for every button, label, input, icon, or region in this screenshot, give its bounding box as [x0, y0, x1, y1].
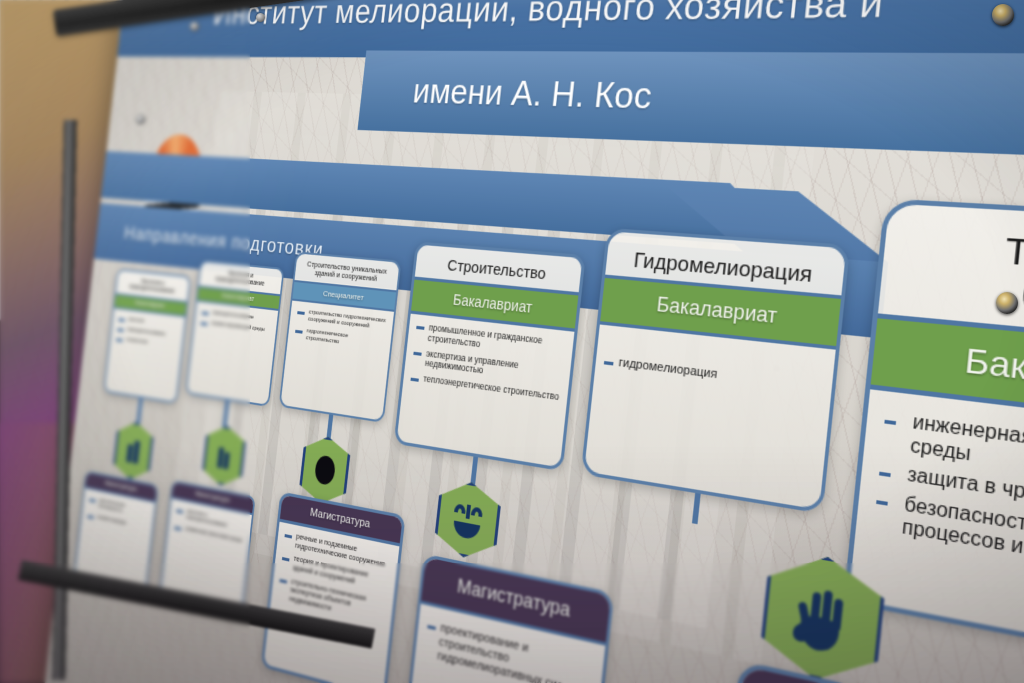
card-level-label: Бакалавриат — [452, 291, 533, 316]
card-level-band: Бакалавриат — [600, 275, 842, 350]
card-level-label: Бакалавриат — [222, 292, 255, 302]
master-card-hydro[interactable]: Магистратура проектирование и строительс… — [402, 553, 615, 683]
badge-water[interactable] — [433, 477, 503, 564]
program-card-unique-buildings[interactable]: Строительство уникальных зданий и сооруж… — [279, 251, 402, 423]
card-level-label: Специалитет — [323, 289, 365, 302]
grommet-icon — [992, 4, 1014, 26]
information-banner: Институт мелиорации, водного хозяйства и… — [36, 0, 1024, 683]
card-level-label: Магистратура — [105, 480, 137, 493]
arrow-head-icon — [650, 175, 896, 345]
card-level-label: Бакалавриат — [963, 341, 1024, 407]
card-level-label: Бакалавриат — [656, 293, 779, 328]
card-bullet-list: строительство гидротехнических сооружени… — [286, 300, 394, 365]
card-bullet: безопасность технологических процессов и… — [873, 490, 1024, 604]
connector-stem — [470, 457, 478, 486]
program-card-technosphere-safety[interactable]: Техносферная безопасность Бакалавриат ин… — [843, 198, 1024, 683]
card-level-band: Специалитет — [292, 280, 396, 312]
card-bullet: гидротехническое строительство — [294, 327, 384, 352]
card-bullet-list: проектирование и строительство гидромели… — [413, 604, 606, 683]
card-level-label: Бакалавриат — [135, 300, 165, 310]
card-bullet-list: гидромелиорация — [594, 325, 836, 413]
building-icon — [214, 442, 234, 470]
card-bullet: защита в чрезвычайных ситуациях — [878, 461, 1024, 545]
banner-title-line1: Институт мелиорации, водного хозяйства и — [212, 0, 886, 32]
master-card-safety[interactable]: Магистратура защита в чрезвычайных ситуа… — [715, 660, 1024, 683]
connector-stem — [692, 493, 701, 524]
card-level-label: Магистратура — [310, 507, 371, 531]
card-bullet: инженерная защита окружающей среды — [881, 409, 1024, 512]
grommet-icon — [996, 292, 1018, 314]
building-icon — [124, 437, 142, 464]
card-level-band: Бакалавриат — [870, 313, 1024, 442]
card-bullet: строительство гидротехнических сооружени… — [296, 308, 386, 332]
banner-title-line2: имени А. Н. Кос — [411, 71, 654, 117]
card-bullet: речные и подземные гидротехнические соор… — [283, 530, 391, 570]
card-bullet-list: промышленное и гражданское строительство… — [402, 313, 575, 418]
program-card-ecology-1[interactable]: Экология и природопользование Бакалавриа… — [103, 268, 191, 404]
program-card-hydro-reclamation[interactable]: Гидромелиорация Бакалавриат гидромелиора… — [581, 228, 851, 514]
directions-label: Направления подготовки — [123, 222, 325, 262]
program-card-ecology-2[interactable]: Экология и природопользование Бакалавриа… — [185, 260, 284, 407]
circle-icon — [314, 455, 336, 486]
banner-background-photo-2 — [194, 205, 747, 629]
program-card-construction[interactable]: Строительство Бакалавриат промышленное и… — [394, 241, 586, 471]
card-bullet-list: экология природопользование геоэкология — [109, 308, 185, 363]
card-bullet: управление качеством среды — [174, 523, 243, 544]
card-bullet: проектирование и строительство гидромели… — [424, 619, 594, 683]
card-title: Строительство уникальных зданий и сооруж… — [295, 253, 400, 290]
photograph-scene: Институт мелиорации, водного хозяйства и… — [0, 0, 1024, 683]
card-level-band: Магистратура — [421, 557, 611, 645]
card-bullet: теория и проектирование зданий и сооруже… — [281, 552, 389, 593]
badge-building[interactable] — [112, 419, 155, 483]
master-card-construction[interactable]: Магистратура речные и подземные гидротех… — [261, 491, 406, 683]
screw-icon — [136, 115, 145, 124]
card-bullet-list: инженерная защита окружающей среды защит… — [853, 389, 1024, 634]
card-level-label: Магистратура — [195, 491, 230, 505]
card-level-label: Магистратура — [456, 575, 571, 621]
connector-stem — [326, 414, 333, 441]
card-bullet-list: природопользование охрана окружающей сре… — [193, 301, 278, 347]
card-bullet: гидромелиорация — [603, 355, 822, 396]
card-title: Строительство — [415, 245, 583, 292]
directions-arrow-band: Направления подготовки — [67, 150, 895, 339]
badge-circle[interactable] — [298, 433, 352, 508]
card-bullet-list: экология и природопользование управление… — [167, 499, 252, 559]
hand-icon — [787, 578, 857, 659]
card-title: Гидромелиорация — [605, 231, 846, 295]
screw-icon — [190, 22, 199, 31]
card-bullet: охрана окружающей среды — [200, 319, 269, 334]
card-bullet: промышленное и гражданское строительство — [415, 321, 566, 360]
card-title: Техносферная безопасность — [878, 204, 1024, 355]
banner-header-ribbon-2: имени А. Н. Кос — [357, 50, 1024, 177]
card-level-band: Бакалавриат — [411, 276, 579, 331]
card-level-band: Магистратура — [736, 666, 1024, 683]
fountain-icon — [449, 499, 487, 542]
screw-icon — [256, 13, 265, 22]
badge-hand[interactable] — [758, 547, 887, 683]
arrow-lower-stripe: Направления подготовки — [67, 201, 888, 338]
card-level-band: Магистратура — [280, 495, 403, 546]
connector-stem — [136, 398, 143, 426]
card-bullet: теплоэнергетическое строительство — [410, 373, 560, 404]
card-bullet: экспертиза и управление недвижимостью — [412, 347, 563, 387]
